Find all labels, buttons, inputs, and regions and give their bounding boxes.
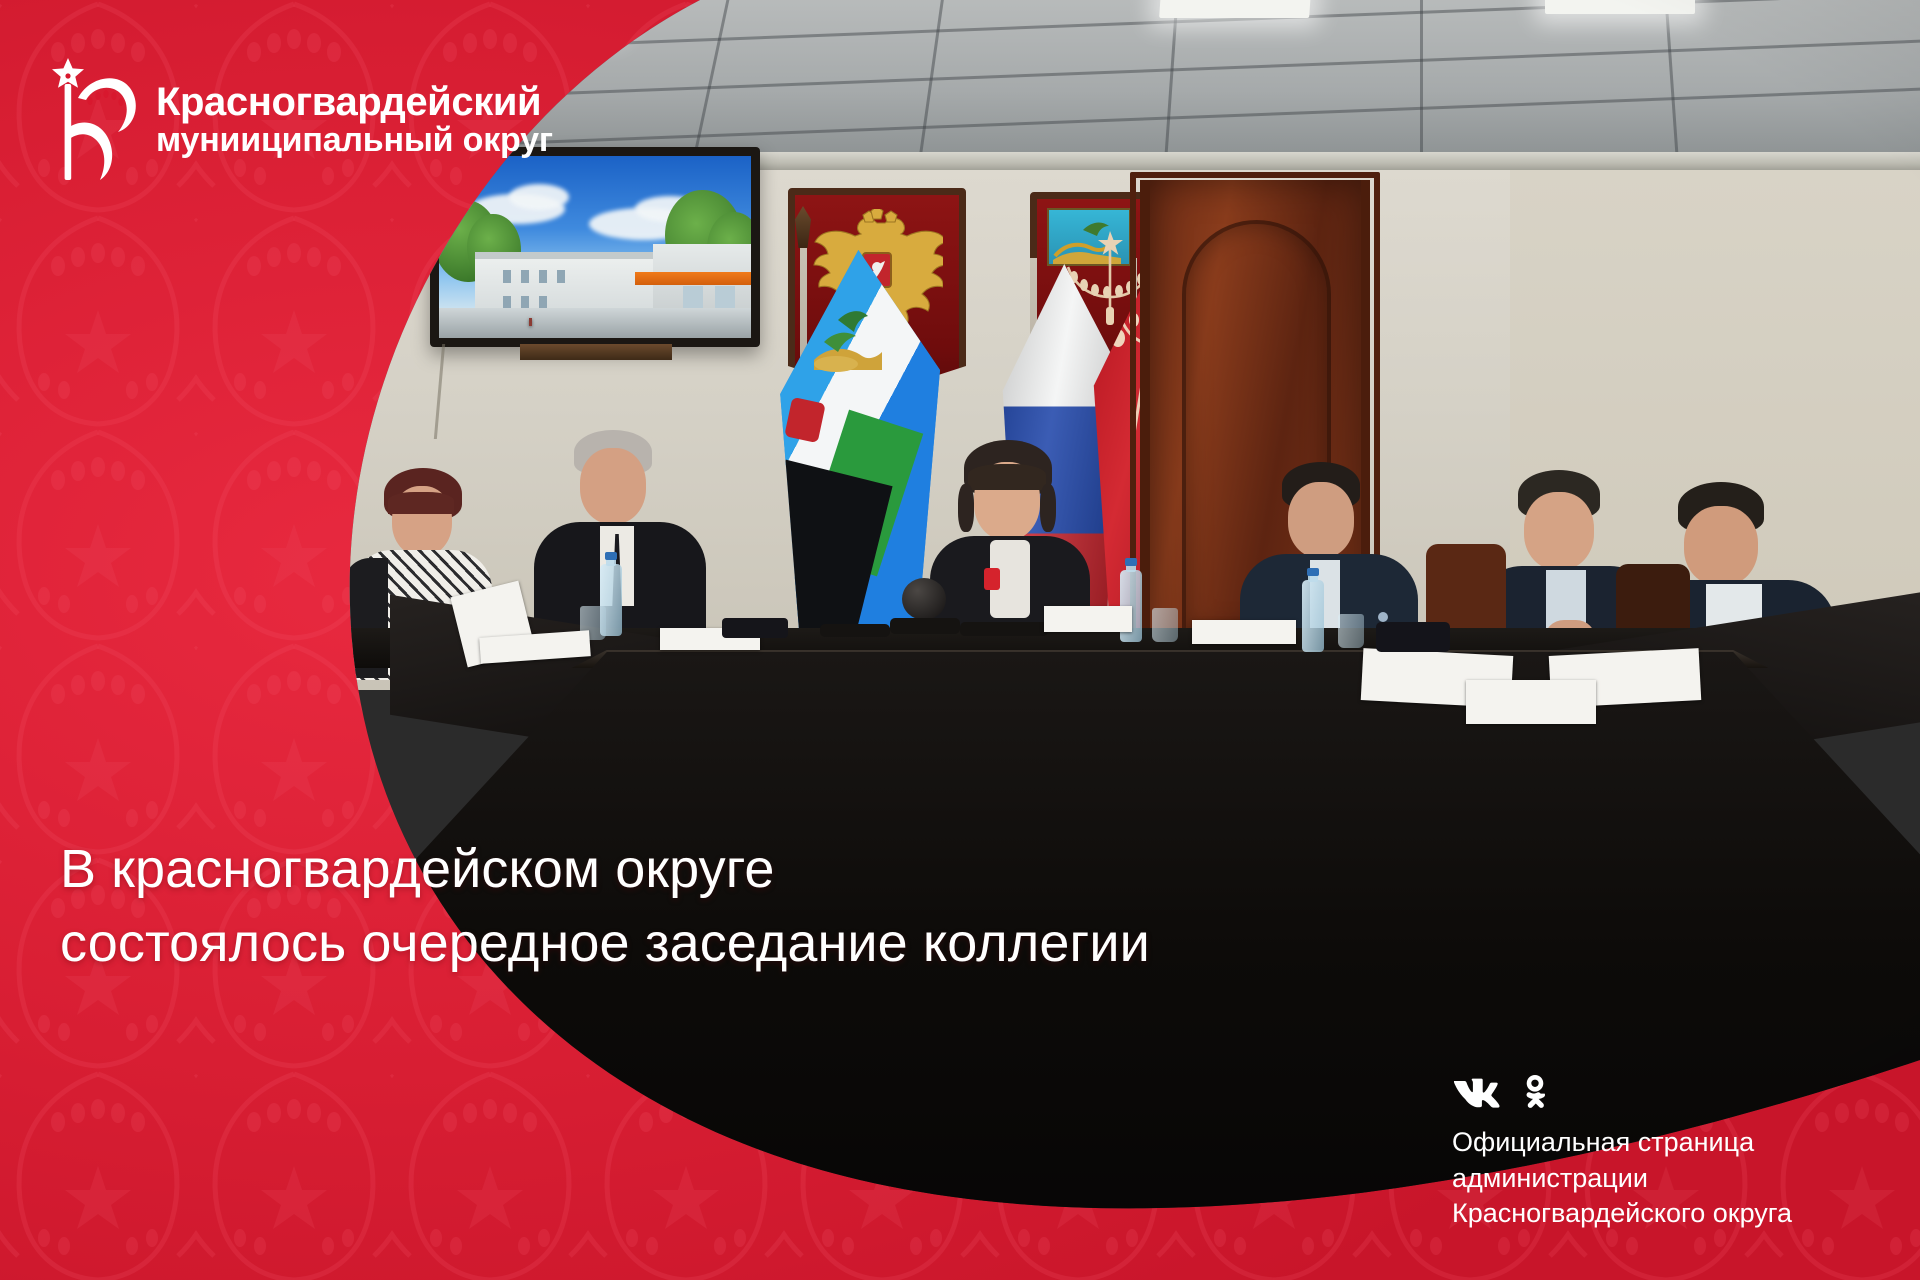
krasnogvardeysky-k-monogram-icon [42, 56, 138, 184]
document-sheet [1044, 606, 1132, 632]
building-canopy [635, 272, 751, 285]
social-note-line1: Официальная страница [1452, 1125, 1872, 1161]
microphone-strip [820, 624, 890, 637]
water-bottle [1302, 580, 1324, 652]
microphone-base [890, 618, 960, 634]
display-shelf [520, 344, 672, 360]
document-sheet [1466, 680, 1596, 724]
headline-line1: В красногвардейском округе [60, 833, 1240, 906]
brand-logo[interactable]: Красногвардейский мунииципальный округ [42, 56, 553, 184]
brand-name-line1: Красногвардейский [156, 83, 553, 122]
social-note: Официальная страница администрации Красн… [1452, 1125, 1872, 1232]
social-note-line3: Красногвардейского округа [1452, 1196, 1872, 1232]
smartphone [722, 618, 788, 638]
brand-wordmark: Красногвардейский мунииципальный округ [156, 83, 553, 157]
odnoklassniki-icon[interactable] [1520, 1075, 1550, 1111]
vk-icon[interactable] [1452, 1077, 1506, 1109]
microphone [902, 578, 946, 620]
social-note-line2: администрации [1452, 1161, 1872, 1197]
headline: В красногвардейском округе состоялось оч… [60, 833, 1240, 980]
brand-name-line2: мунииципальный округ [156, 124, 553, 157]
microphone-strip [960, 622, 1048, 636]
smartphone [1376, 622, 1450, 652]
lapel-ribbon [984, 568, 1000, 590]
headline-line2: состоялось очередное заседание коллегии [60, 907, 1240, 980]
social-icons [1452, 1075, 1872, 1111]
social-block: Официальная страница администрации Красн… [1452, 1075, 1872, 1232]
ceiling-light [1159, 0, 1311, 18]
social-media-card: Красногвардейский мунииципальный округ В… [0, 0, 1920, 1280]
render-ground [439, 308, 751, 338]
drinking-glass [1152, 608, 1178, 642]
drinking-glass [1338, 614, 1364, 648]
ceiling-light [1545, 0, 1695, 14]
document-sheet [1192, 620, 1296, 644]
